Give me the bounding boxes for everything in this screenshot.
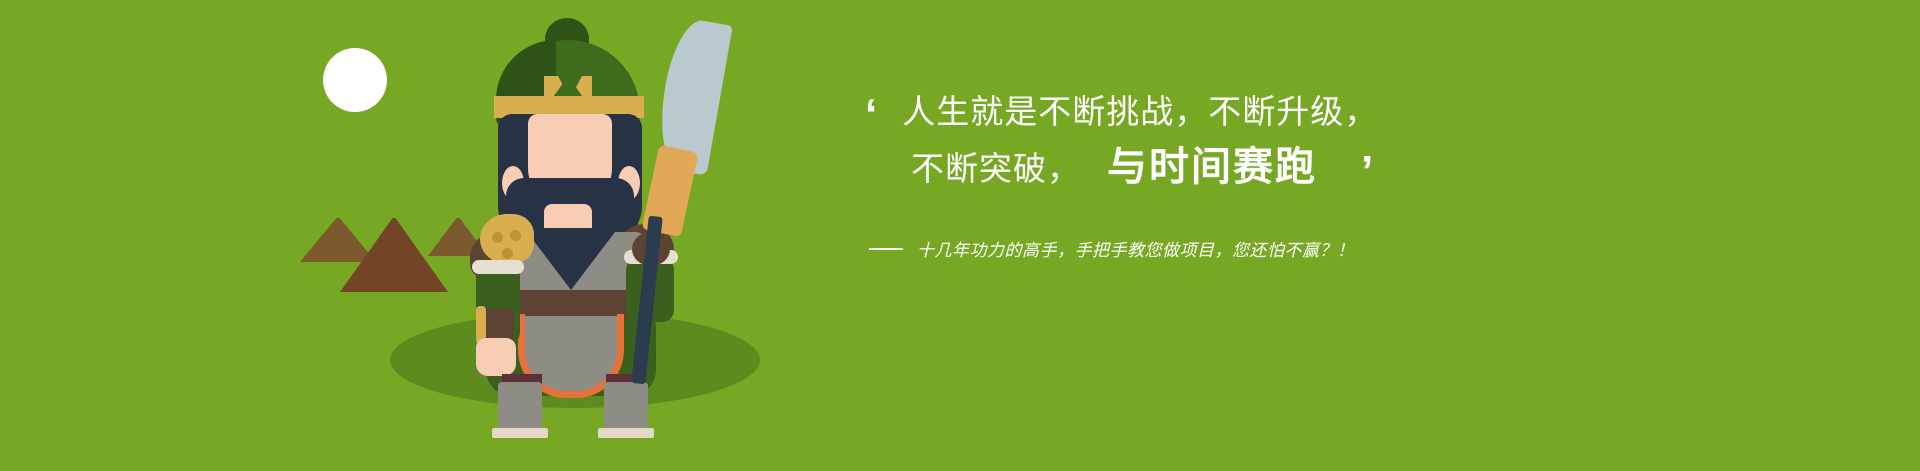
open-quote-icon: ‘	[865, 93, 878, 137]
boot-sole-left-shape	[492, 428, 548, 438]
promo-banner: ‘ 人生就是不断挑战，不断升级， 不断突破， 与时间赛跑 ’ 十几年功力的高手，…	[0, 0, 1920, 471]
headline-line-2-prefix: 不断突破，	[911, 140, 1081, 198]
headline-line-1-text: 人生就是不断挑战，不断升级，	[902, 86, 1378, 138]
headline-emphasis: 与时间赛跑	[1107, 138, 1317, 196]
collar-v-shape	[524, 228, 618, 290]
banner-subtitle-text: 十几年功力的高手，手把手教您做项目，您还怕不赢？！	[917, 236, 1355, 261]
banner-subtitle: 十几年功力的高手，手把手教您做项目，您还怕不赢？！	[869, 236, 1505, 261]
ornament-stud-shape	[510, 230, 521, 241]
guandao-icon	[620, 20, 740, 360]
hand-left-shape	[476, 338, 516, 376]
headline-line-1: ‘ 人生就是不断挑战，不断升级，	[865, 86, 1505, 138]
em-dash-rule	[869, 248, 903, 250]
sun-icon	[323, 48, 387, 112]
cuff-left-shape	[472, 260, 524, 274]
close-quote-icon: ’	[1361, 150, 1374, 194]
boot-sole-right-shape	[598, 428, 654, 438]
ornament-stud-shape	[492, 232, 503, 243]
banner-text-block: ‘ 人生就是不断挑战，不断升级， 不断突破， 与时间赛跑 ’ 十几年功力的高手，…	[865, 86, 1505, 261]
weapon-shaft-shape	[631, 216, 662, 385]
headline-line-2: 不断突破， 与时间赛跑 ’	[911, 138, 1505, 198]
ornament-stud-shape	[502, 248, 513, 259]
boot-right-shape	[604, 382, 648, 434]
boot-left-shape	[498, 382, 542, 434]
crown-notch-shape	[558, 76, 582, 98]
